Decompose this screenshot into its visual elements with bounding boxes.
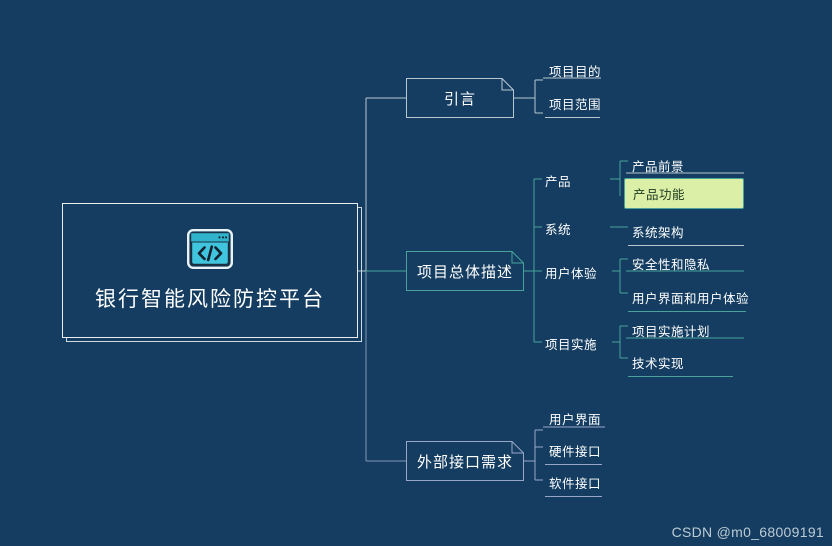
node-product-vision[interactable]: 产品前景	[628, 153, 688, 179]
branch-node-introduction-label: 引言	[444, 88, 476, 109]
root-node[interactable]: 银行智能风险防控平台	[62, 203, 358, 338]
group-label-system-text: 系统	[545, 223, 571, 237]
node-product-features-label: 产品功能	[633, 188, 685, 202]
node-hardware-interface-label: 硬件接口	[549, 445, 601, 459]
code-window-icon	[187, 229, 233, 269]
node-project-purpose-underline	[543, 77, 601, 79]
node-implementation-plan[interactable]: 项目实施计划	[628, 318, 714, 344]
node-software-interface-label: 软件接口	[549, 477, 601, 491]
group-label-user-experience[interactable]: 用户体验	[545, 263, 597, 282]
node-user-interface[interactable]: 用户界面	[545, 406, 605, 432]
mindmap-canvas: 银行智能风险防控平台 引言 项目目的 项目范围 项目总体描述 产品 系统 用户体…	[0, 0, 832, 546]
node-implementation-plan-underline	[626, 337, 744, 339]
node-system-architecture[interactable]: 系统架构	[628, 219, 744, 246]
node-project-scope-label: 项目范围	[549, 98, 601, 112]
group-label-product-text: 产品	[545, 175, 571, 189]
node-security-privacy-underline	[626, 270, 744, 272]
csdn-watermark: CSDN @m0_68009191	[672, 524, 824, 540]
group-label-system[interactable]: 系统	[545, 219, 571, 238]
group-label-product[interactable]: 产品	[545, 171, 571, 190]
group-label-implementation[interactable]: 项目实施	[545, 334, 597, 353]
node-user-interface-underline	[543, 426, 605, 428]
node-hardware-interface[interactable]: 硬件接口	[545, 438, 602, 465]
branch-node-overall-description[interactable]: 项目总体描述	[406, 251, 524, 291]
branch-node-external-interface-label: 外部接口需求	[417, 451, 513, 472]
node-technical-realization[interactable]: 技术实现	[628, 350, 733, 377]
node-system-architecture-label: 系统架构	[632, 226, 684, 240]
branch-node-external-interface[interactable]: 外部接口需求	[406, 441, 524, 481]
node-security-privacy[interactable]: 安全性和隐私	[628, 251, 714, 277]
branch-node-overall-description-label: 项目总体描述	[417, 261, 513, 282]
branch-node-introduction[interactable]: 引言	[406, 78, 514, 118]
node-ui-and-ux-label: 用户界面和用户体验	[632, 292, 749, 306]
node-software-interface[interactable]: 软件接口	[545, 470, 602, 497]
node-product-features[interactable]: 产品功能	[624, 178, 744, 209]
node-user-interface-label: 用户界面	[549, 413, 601, 427]
node-ui-and-ux[interactable]: 用户界面和用户体验	[628, 285, 746, 312]
group-label-user-experience-text: 用户体验	[545, 267, 597, 281]
node-project-scope[interactable]: 项目范围	[545, 91, 600, 118]
node-technical-realization-label: 技术实现	[632, 357, 684, 371]
root-node-label: 银行智能风险防控平台	[95, 283, 325, 313]
node-product-vision-underline	[626, 172, 744, 174]
node-project-purpose[interactable]: 项目目的	[545, 58, 605, 84]
group-label-implementation-text: 项目实施	[545, 338, 597, 352]
